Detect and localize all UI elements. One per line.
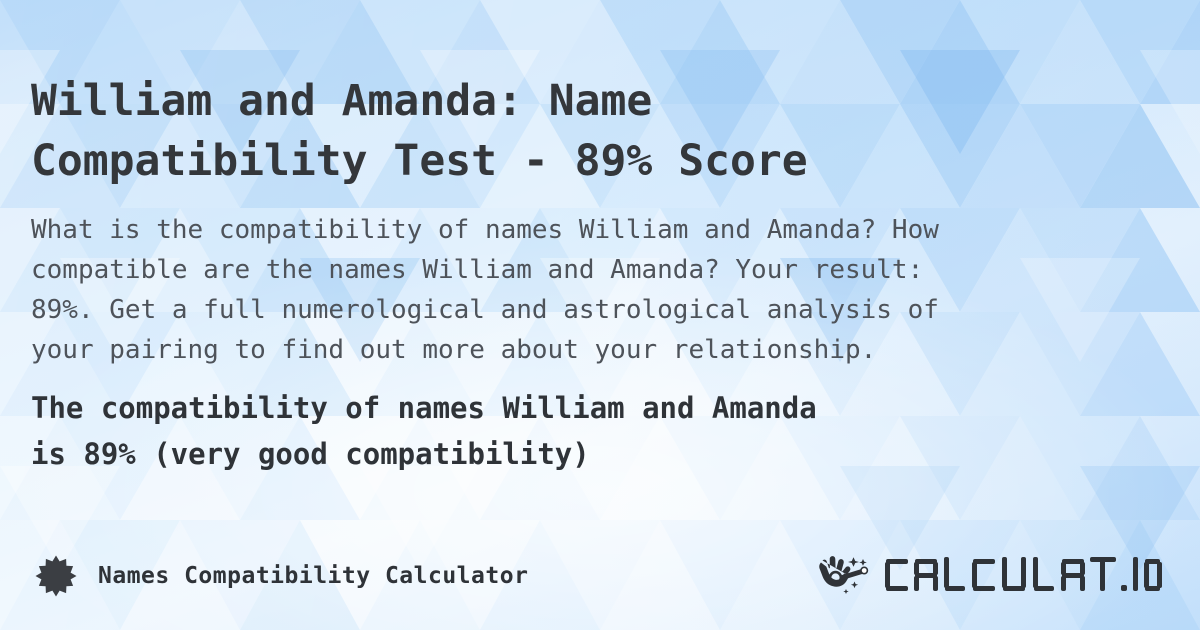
page-title: William and Amanda: Name Compatibility T… bbox=[31, 71, 1171, 191]
hand-magic-wand-icon bbox=[816, 553, 878, 599]
card-footer: Names Compatibility Calculator bbox=[0, 546, 1200, 606]
brand-block: Names Compatibility Calculator bbox=[34, 554, 528, 598]
card-content: William and Amanda: Name Compatibility T… bbox=[0, 0, 1200, 630]
calculatio-wordmark bbox=[884, 553, 1162, 599]
star-burst-icon bbox=[34, 554, 78, 598]
compatibility-result-text: The compatibility of names William and A… bbox=[31, 385, 1171, 477]
description-text: What is the compatibility of names Willi… bbox=[31, 210, 1171, 370]
compatibility-result-card: William and Amanda: Name Compatibility T… bbox=[0, 0, 1200, 630]
brand-label: Names Compatibility Calculator bbox=[98, 563, 528, 589]
calculatio-logo[interactable] bbox=[816, 553, 1162, 599]
